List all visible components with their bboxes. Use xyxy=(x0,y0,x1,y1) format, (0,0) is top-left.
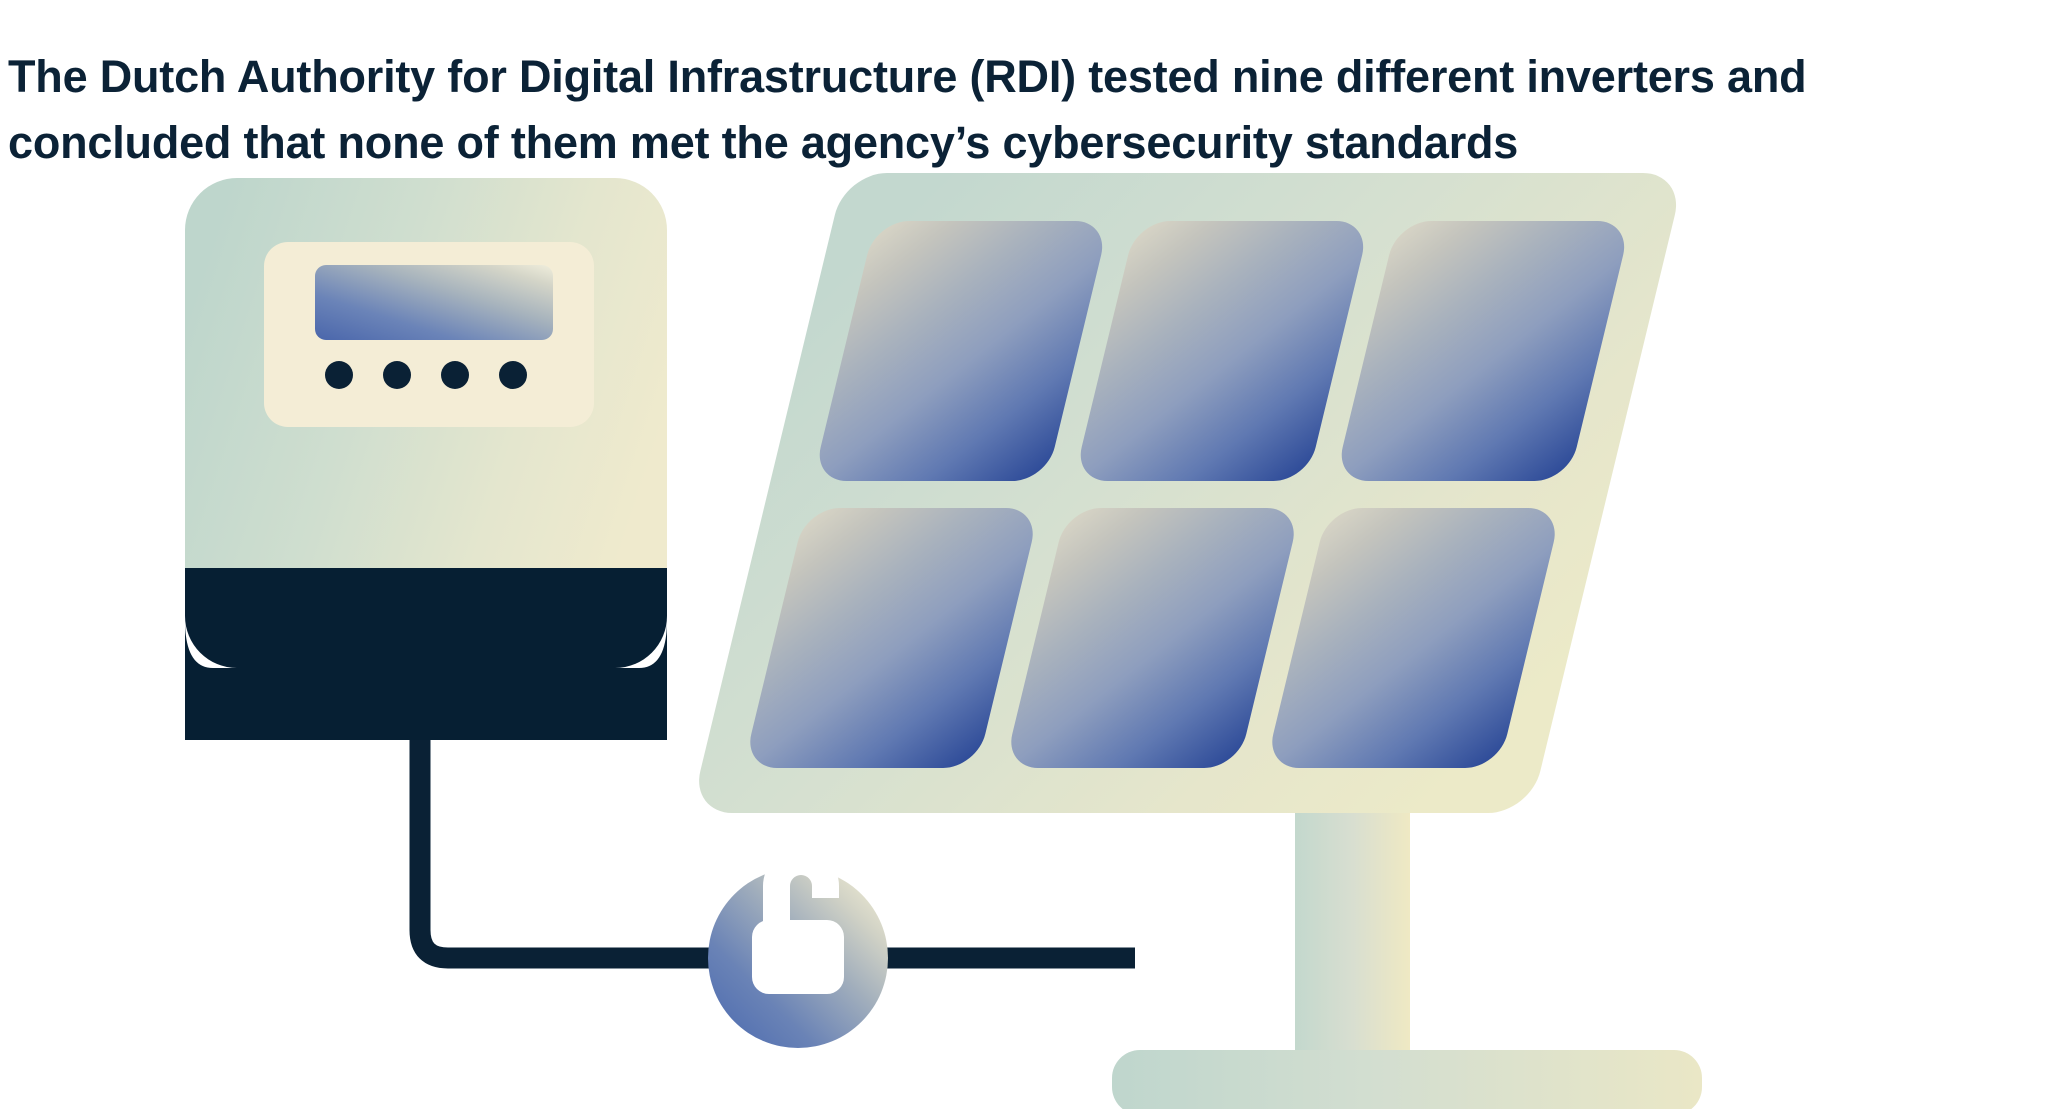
inverter-button[interactable] xyxy=(441,361,469,389)
illustration-stage xyxy=(0,150,2048,1109)
page-root: The Dutch Authority for Digital Infrastr… xyxy=(0,0,2048,1109)
unlock-icon xyxy=(752,848,844,994)
solar-panel-stand xyxy=(1112,810,1702,1109)
inverter-screen xyxy=(315,265,553,340)
solar-panel xyxy=(690,173,1685,813)
inverter-dark-base xyxy=(185,568,667,668)
inverter-button[interactable] xyxy=(499,361,527,389)
inverter-button[interactable] xyxy=(325,361,353,389)
stand-base xyxy=(1112,1050,1702,1109)
unlocked-padlock-badge[interactable] xyxy=(708,848,888,1048)
solar-inverter-cybersecurity-illustration xyxy=(0,150,2048,1109)
stand-post xyxy=(1295,810,1410,1075)
solar-inverter-device xyxy=(185,178,667,740)
inverter-button[interactable] xyxy=(383,361,411,389)
